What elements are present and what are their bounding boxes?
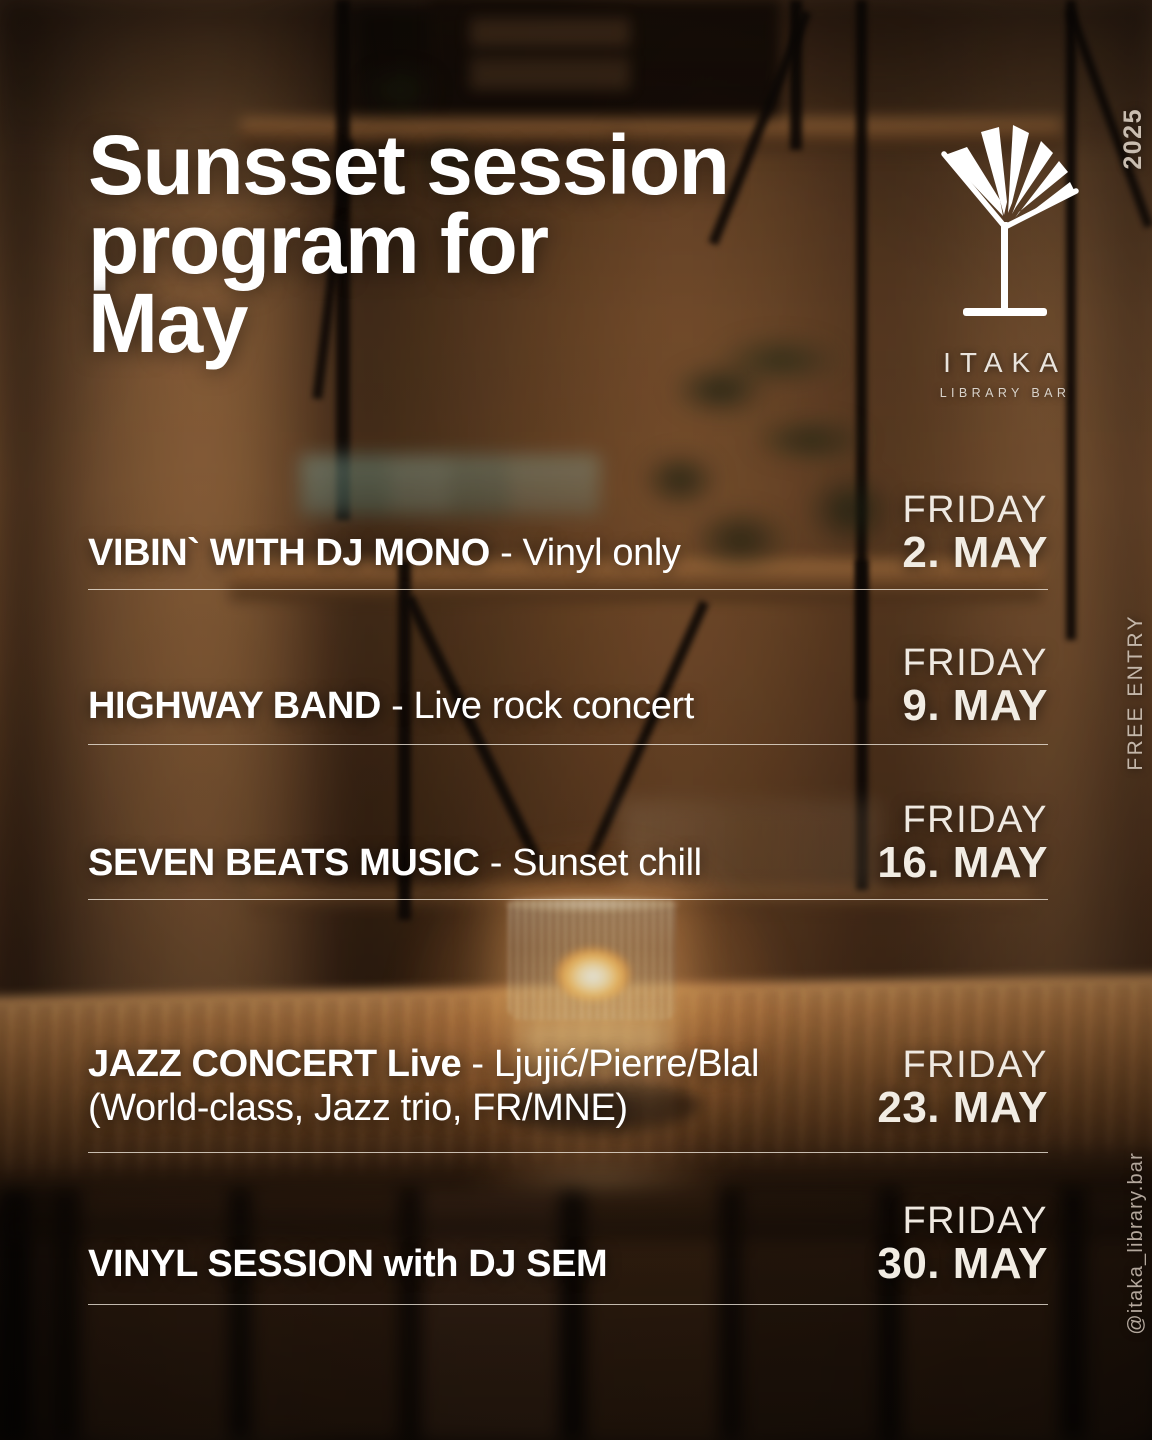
event-name: SEVEN BEATS MUSIC (88, 842, 480, 884)
event-schedule: VIBIN` WITH DJ MONO - Vinyl only FRIDAY … (88, 462, 1048, 1305)
event-description: - Ljujić/Pierre/Blal (461, 1043, 759, 1085)
side-label-year: 2025 (1119, 108, 1148, 170)
event-date-value: 30. MAY (877, 1240, 1048, 1288)
event-date: FRIDAY 16. MAY (877, 801, 1048, 899)
event-weekday: FRIDAY (902, 644, 1048, 683)
event-title: HIGHWAY BAND - Live rock concert (88, 685, 694, 744)
event-title: SEVEN BEATS MUSIC - Sunset chill (88, 842, 702, 899)
page-title-line-2: program for (88, 205, 868, 284)
event-name: VINYL SESSION with DJ SEM (88, 1243, 607, 1285)
poster-canvas: Sunsset session program for May (0, 0, 1152, 1440)
event-description: - Sunset chill (480, 842, 702, 884)
event-date: FRIDAY 23. MAY (877, 1046, 1048, 1152)
event-weekday: FRIDAY (902, 491, 1048, 530)
event-name: JAZZ CONCERT Live (88, 1043, 461, 1085)
event-title-line: HIGHWAY BAND - Live rock concert (88, 685, 694, 728)
event-title-line: VIBIN` WITH DJ MONO - Vinyl only (88, 532, 680, 575)
event-title-line: VINYL SESSION with DJ SEM (88, 1243, 607, 1286)
event-date-value: 2. MAY (902, 529, 1048, 577)
event-name: HIGHWAY BAND (88, 685, 381, 727)
logo-wordmark: ITAKA (925, 347, 1085, 379)
page-title: Sunsset session program for May (88, 126, 868, 363)
event-row[interactable]: VIBIN` WITH DJ MONO - Vinyl only FRIDAY … (88, 462, 1048, 590)
poster-content: Sunsset session program for May (0, 0, 1152, 1440)
event-weekday: FRIDAY (877, 801, 1048, 840)
brand-logo: ITAKA LIBRARY BAR (925, 108, 1085, 418)
event-date: FRIDAY 9. MAY (902, 644, 1048, 744)
event-subtitle: (World-class, Jazz trio, FR/MNE) (88, 1087, 759, 1130)
event-date-value: 23. MAY (877, 1084, 1048, 1132)
event-description: - Vinyl only (490, 532, 681, 574)
book-martini-glass-icon (925, 108, 1085, 343)
event-title: JAZZ CONCERT Live - Ljujić/Pierre/Blal (… (88, 1043, 759, 1152)
logo-tagline: LIBRARY BAR (925, 386, 1085, 400)
event-date: FRIDAY 2. MAY (902, 491, 1048, 589)
page-title-line-1: Sunsset session (88, 126, 868, 205)
event-title-line: JAZZ CONCERT Live - Ljujić/Pierre/Blal (88, 1043, 759, 1086)
event-title-line: SEVEN BEATS MUSIC - Sunset chill (88, 842, 702, 885)
event-row[interactable]: SEVEN BEATS MUSIC - Sunset chill FRIDAY … (88, 745, 1048, 900)
event-date-value: 9. MAY (902, 682, 1048, 730)
event-date: FRIDAY 30. MAY (877, 1202, 1048, 1304)
event-description: - Live rock concert (381, 685, 694, 727)
event-row[interactable]: HIGHWAY BAND - Live rock concert FRIDAY … (88, 590, 1048, 745)
event-name: VIBIN` WITH DJ MONO (88, 532, 490, 574)
event-weekday: FRIDAY (877, 1046, 1048, 1085)
side-label-social-handle: @itaka_library.bar (1125, 1152, 1148, 1335)
event-date-value: 16. MAY (877, 839, 1048, 887)
event-title: VINYL SESSION with DJ SEM (88, 1243, 607, 1304)
event-row[interactable]: JAZZ CONCERT Live - Ljujić/Pierre/Blal (… (88, 900, 1048, 1153)
event-weekday: FRIDAY (877, 1202, 1048, 1241)
event-row[interactable]: VINYL SESSION with DJ SEM FRIDAY 30. MAY (88, 1153, 1048, 1305)
side-label-free-entry: FREE ENTRY (1124, 614, 1148, 771)
page-title-line-3: May (88, 284, 868, 363)
event-title: VIBIN` WITH DJ MONO - Vinyl only (88, 532, 680, 589)
